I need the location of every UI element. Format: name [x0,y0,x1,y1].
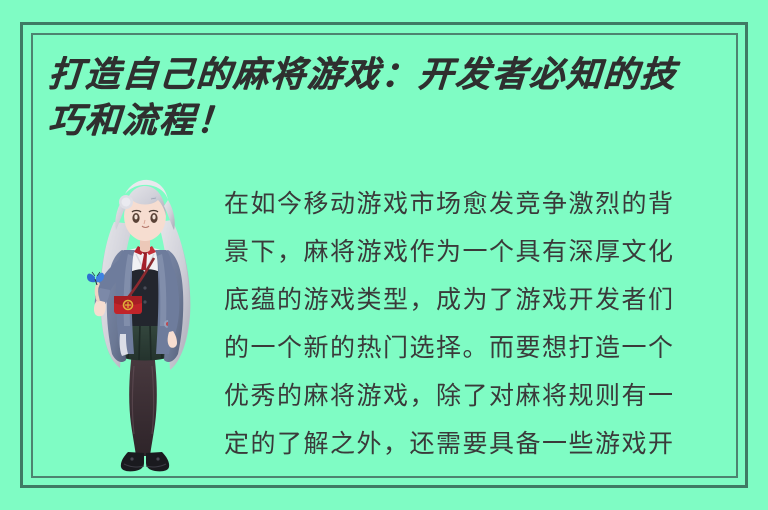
legs-tights [129,352,157,456]
body-line-5: 优秀的麻将游戏，除了对麻将规则有一 [224,372,736,420]
poster-title: 打造自己的麻将游戏：开发者必知的技 巧和流程！ [48,52,728,144]
body-line-4: 的一个新的热门选择。而要想打造一个 [224,324,736,372]
body-line-6: 定的了解之外，还需要具备一些游戏开 [224,420,736,468]
anime-girl-illustration [62,176,227,476]
poster-body-text: 在如今移动游戏市场愈发竞争激烈的背 景下，麻将游戏作为一个具有深厚文化 底蕴的游… [224,180,736,468]
body-line-1: 在如今移动游戏市场愈发竞争激烈的背 [224,180,736,228]
body-line-3: 底蕴的游戏类型，成为了游戏开发者们 [224,276,736,324]
poster-canvas: 打造自己的麻将游戏：开发者必知的技 巧和流程！ 在如今移动游戏市场愈发竞争激烈的… [0,0,768,510]
title-line-1: 打造自己的麻将游戏：开发者必知的技 [46,52,729,98]
body-line-2: 景下，麻将游戏作为一个具有深厚文化 [224,228,736,276]
title-line-2: 巧和流程！ [46,98,729,144]
